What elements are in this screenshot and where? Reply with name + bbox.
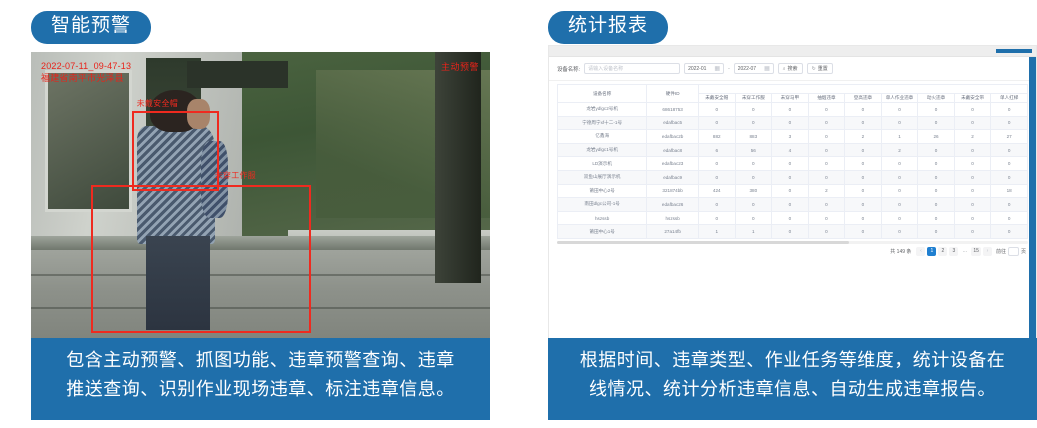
cell-violation-count: 883 (735, 130, 772, 144)
cell-violation-count: 0 (845, 143, 882, 157)
table-row[interactable]: 亿鑫海edafbac2b882883302126227 (558, 130, 1028, 144)
cell-violation-count: 0 (808, 198, 845, 212)
reset-button-label: 重置 (818, 65, 828, 72)
cell-violation-count: 0 (772, 116, 809, 130)
cell-violation-count: 0 (991, 143, 1028, 157)
report-table-wrapper: 设备名称 硬件ID 未戴安全帽未穿工作服未穿马甲抽烟违章登高违章单人作业违章动火… (549, 81, 1036, 239)
photo-timestamp-overlay: 2022-07-11_09-47-13 福建省南平市光泽县 (41, 60, 131, 84)
cell-violation-count: 2 (954, 130, 991, 144)
poster-stage: 智能预警 未戴安全帽 未穿工作服 (0, 0, 1037, 428)
right-caption: 根据时间、违章类型、作业任务等维度，统计设备在 线情况、统计分析违章信息、自动生… (548, 338, 1037, 420)
search-icon: ⌕ (783, 66, 786, 72)
cell-violation-count: 4 (772, 143, 809, 157)
cell-violation-count: 0 (954, 170, 991, 184)
cell-violation-count: 0 (772, 211, 809, 225)
surveillance-photo: 未戴安全帽 未穿工作服 2022-07-11_09-47-13 福建省南平市光泽… (31, 52, 490, 348)
photo-alarm-tag: 主动预警 (441, 60, 479, 73)
cell-violation-count: 0 (698, 157, 735, 171)
table-body: 龙岩ydlgc2号机68618753000000000宁德周宁xf十二-1号ed… (558, 103, 1028, 239)
table-row[interactable]: hszssbhszssb000000000 (558, 211, 1028, 225)
cell-hardware-id: edafbac9 (647, 170, 699, 184)
cell-violation-count: 0 (772, 170, 809, 184)
cell-hardware-id: edafbac5 (647, 116, 699, 130)
violation-statistics-table: 设备名称 硬件ID 未戴安全帽未穿工作服未穿马甲抽烟违章登高违章单人作业违章动火… (557, 84, 1028, 239)
header-violation-8[interactable]: 单人扛梯 (991, 94, 1028, 103)
cell-device-name: 双鱼山展厅演示机 (558, 170, 647, 184)
cell-violation-count: 0 (808, 157, 845, 171)
cell-violation-count: 0 (772, 157, 809, 171)
cell-violation-count: 0 (698, 116, 735, 130)
cell-violation-count: 0 (845, 184, 882, 198)
date-start-value: 2022-01 (688, 66, 706, 72)
scrollbar-thumb[interactable] (557, 241, 849, 244)
cell-hardware-id: hszssb (647, 211, 699, 225)
cell-device-name: 亿鑫海 (558, 130, 647, 144)
cell-violation-count: 0 (772, 198, 809, 212)
cell-hardware-id: edafbac8 (647, 143, 699, 157)
cell-violation-count: 1 (698, 225, 735, 239)
header-violation-1[interactable]: 未穿工作服 (735, 94, 772, 103)
cell-violation-count: 0 (881, 116, 918, 130)
left-caption-line-1: 包含主动预警、抓图功能、违章预警查询、违章 (45, 346, 476, 375)
cell-hardware-id: edafbac26 (647, 198, 699, 212)
cell-violation-count: 0 (735, 103, 772, 117)
header-violation-4[interactable]: 登高违章 (845, 94, 882, 103)
cell-device-name: 南田dlgc公司-1号 (558, 198, 647, 212)
left-caption-line-2: 推送查询、识别作业现场违章、标注违章信息。 (45, 375, 476, 404)
cell-violation-count: 0 (918, 116, 955, 130)
pagination-next[interactable]: › (983, 247, 992, 256)
cell-device-name: 莆田中心1号 (558, 225, 647, 239)
cell-hardware-id: edafbac2b (647, 130, 699, 144)
header-violation-3[interactable]: 抽烟违章 (808, 94, 845, 103)
cell-violation-count: 0 (808, 143, 845, 157)
cell-device-name: 龙岩ydlgc1号机 (558, 143, 647, 157)
cell-violation-count: 0 (881, 157, 918, 171)
photo-location: 福建省南平市光泽县 (41, 72, 131, 84)
cell-violation-count: 0 (698, 170, 735, 184)
cell-violation-count: 18 (991, 184, 1028, 198)
app-right-accent-bar (1029, 57, 1036, 347)
cell-violation-count: 0 (845, 170, 882, 184)
cell-violation-count: 0 (808, 103, 845, 117)
cell-violation-count: 0 (954, 157, 991, 171)
cell-violation-count: 0 (698, 198, 735, 212)
cell-violation-count: 0 (808, 211, 845, 225)
right-section-badge: 统计报表 (548, 11, 668, 44)
right-caption-line-1: 根据时间、违章类型、作业任务等维度，统计设备在 (562, 346, 1023, 375)
table-row[interactable]: 南田dlgc公司-1号edafbac26000000000 (558, 198, 1028, 212)
table-head: 设备名称 硬件ID 未戴安全帽未穿工作服未穿马甲抽烟违章登高违章单人作业违章动火… (558, 85, 1028, 103)
cell-violation-count: 0 (808, 116, 845, 130)
app-top-accent-bar (996, 49, 1032, 53)
table-header-row-1: 设备名称 硬件ID (558, 85, 1028, 94)
cell-violation-count: 0 (808, 170, 845, 184)
search-button-label: 搜索 (788, 65, 798, 72)
cell-hardware-id: 321874bb (647, 184, 699, 198)
date-end-input[interactable]: 2022-07 ▦ (734, 63, 774, 74)
table-row[interactable]: 莆田中心1号27a14fb110000000 (558, 225, 1028, 239)
search-toolbar: 设备名称: 请输入设备名称 2022-01 ▦ - 2022-07 ▦ ⌕ 搜索 (549, 57, 1036, 81)
pagination-jump: 前往 页 (996, 247, 1026, 256)
pagination-page-1[interactable]: 1 (927, 247, 936, 256)
detection-box-uniform (91, 185, 311, 333)
table-row[interactable]: LD演示机edafbac23000000000 (558, 157, 1028, 171)
table-row[interactable]: 双鱼山展厅演示机edafbac9000000000 (558, 170, 1028, 184)
calendar-icon: ▦ (764, 65, 770, 72)
device-name-label: 设备名称: (557, 65, 580, 73)
pagination-prev[interactable]: ‹ (916, 247, 925, 256)
cell-violation-count: 0 (735, 198, 772, 212)
cell-violation-count: 0 (735, 116, 772, 130)
cell-violation-count: 0 (991, 225, 1028, 239)
cell-violation-count: 0 (808, 130, 845, 144)
cell-violation-count: 0 (845, 211, 882, 225)
cell-violation-count: 0 (845, 116, 882, 130)
header-violation-7[interactable]: 未戴安全带 (954, 94, 991, 103)
cell-violation-count: 0 (845, 157, 882, 171)
cell-violation-count: 0 (772, 184, 809, 198)
table-row[interactable]: 莆田中心2号321874bb42438002000018 (558, 184, 1028, 198)
cell-violation-count: 0 (881, 184, 918, 198)
cell-violation-count: 1 (735, 225, 772, 239)
cell-violation-count: 0 (772, 225, 809, 239)
reset-button[interactable]: ↻ 重置 (807, 63, 833, 74)
cell-violation-count: 0 (954, 198, 991, 212)
date-range-separator: - (728, 66, 730, 72)
table-row[interactable]: 龙岩ydlgc1号机edafbac86564002000 (558, 143, 1028, 157)
cell-violation-count: 0 (918, 211, 955, 225)
cell-violation-count: 3 (772, 130, 809, 144)
cell-violation-count: 0 (954, 211, 991, 225)
pagination-total: 共 149 条 (890, 248, 911, 255)
cell-violation-count: 0 (698, 211, 735, 225)
cell-violation-count: 0 (918, 198, 955, 212)
header-device-name[interactable]: 设备名称 (558, 85, 647, 103)
date-end-value: 2022-07 (738, 66, 756, 72)
pagination-last-page[interactable]: 15 (971, 247, 981, 256)
cell-hardware-id: 27a14fb (647, 225, 699, 239)
cell-violation-count: 0 (698, 103, 735, 117)
cell-violation-count: 0 (735, 157, 772, 171)
report-app-panel: 设备名称: 请输入设备名称 2022-01 ▦ - 2022-07 ▦ ⌕ 搜索 (548, 45, 1037, 348)
cell-violation-count: 0 (918, 184, 955, 198)
detection-label-uniform: 未穿工作服 (215, 170, 257, 181)
cell-violation-count: 0 (772, 103, 809, 117)
right-caption-line-2: 线情况、统计分析违章信息、自动生成违章报告。 (562, 375, 1023, 404)
cell-device-name: hszssb (558, 211, 647, 225)
cell-device-name: LD演示机 (558, 157, 647, 171)
header-violation-2[interactable]: 未穿马甲 (772, 94, 809, 103)
header-hardware-id[interactable]: 硬件ID (647, 85, 699, 103)
pagination-page-3[interactable]: 3 (949, 247, 958, 256)
cell-violation-count: 0 (918, 103, 955, 117)
cell-device-name: 莆田中心2号 (558, 184, 647, 198)
photo-timestamp: 2022-07-11_09-47-13 (41, 60, 131, 72)
cell-violation-count: 2 (881, 143, 918, 157)
cell-violation-count: 380 (735, 184, 772, 198)
cell-violation-count: 424 (698, 184, 735, 198)
cell-violation-count: 0 (954, 103, 991, 117)
header-violation-group (698, 85, 1027, 94)
left-section-badge: 智能预警 (31, 11, 151, 44)
cell-violation-count: 0 (808, 225, 845, 239)
cell-violation-count: 0 (918, 225, 955, 239)
left-caption: 包含主动预警、抓图功能、违章预警查询、违章 推送查询、识别作业现场违章、标注违章… (31, 338, 490, 420)
header-violation-6[interactable]: 动火违章 (918, 94, 955, 103)
cell-violation-count: 0 (954, 116, 991, 130)
refresh-icon: ↻ (812, 66, 816, 72)
cell-violation-count: 0 (881, 103, 918, 117)
detection-box-helmet (132, 111, 219, 191)
cell-device-name: 龙岩ydlgc2号机 (558, 103, 647, 117)
pagination-page-2[interactable]: 2 (938, 247, 947, 256)
pagination-jump-label: 前往 (996, 248, 1006, 255)
cell-violation-count: 0 (991, 170, 1028, 184)
cell-violation-count: 0 (845, 198, 882, 212)
cell-violation-count: 882 (698, 130, 735, 144)
cell-violation-count: 0 (991, 103, 1028, 117)
cell-violation-count: 0 (881, 198, 918, 212)
cell-violation-count: 0 (735, 170, 772, 184)
device-name-input[interactable]: 请输入设备名称 (584, 63, 680, 74)
cell-violation-count: 0 (991, 116, 1028, 130)
cell-violation-count: 0 (735, 211, 772, 225)
cell-violation-count: 56 (735, 143, 772, 157)
cell-violation-count: 6 (698, 143, 735, 157)
cell-hardware-id: edafbac23 (647, 157, 699, 171)
cell-violation-count: 27 (991, 130, 1028, 144)
app-top-bar (549, 46, 1036, 57)
header-violation-0[interactable]: 未戴安全帽 (698, 94, 735, 103)
device-name-placeholder: 请输入设备名称 (588, 65, 623, 72)
table-row[interactable]: 宁德周宁xf十二-1号edafbac5000000000 (558, 116, 1028, 130)
table-row[interactable]: 龙岩ydlgc2号机68618753000000000 (558, 103, 1028, 117)
date-start-input[interactable]: 2022-01 ▦ (684, 63, 724, 74)
pagination-pages: 123 (927, 247, 958, 256)
cell-violation-count: 0 (954, 143, 991, 157)
search-button[interactable]: ⌕ 搜索 (778, 63, 803, 74)
pagination-ellipsis: … (960, 247, 969, 256)
cell-violation-count: 2 (845, 130, 882, 144)
pagination-jump-input[interactable] (1008, 247, 1019, 256)
pagination-jump-suffix: 页 (1021, 248, 1026, 255)
cell-device-name: 宁德周宁xf十二-1号 (558, 116, 647, 130)
cell-violation-count: 0 (991, 211, 1028, 225)
pagination: 共 149 条 ‹ 123 … 15 › 前往 页 (549, 244, 1036, 256)
cell-hardware-id: 68618753 (647, 103, 699, 117)
table-horizontal-scrollbar[interactable] (557, 241, 1028, 244)
detection-label-helmet: 未戴安全帽 (137, 98, 179, 109)
cell-violation-count: 0 (954, 184, 991, 198)
calendar-icon: ▦ (714, 65, 720, 72)
cell-violation-count: 1 (881, 130, 918, 144)
photo-awning (187, 61, 288, 88)
cell-violation-count: 0 (881, 170, 918, 184)
cell-violation-count: 26 (918, 130, 955, 144)
header-violation-5[interactable]: 单人作业违章 (881, 94, 918, 103)
cell-violation-count: 0 (881, 225, 918, 239)
cell-violation-count: 0 (918, 157, 955, 171)
statistics-report-app: 设备名称: 请输入设备名称 2022-01 ▦ - 2022-07 ▦ ⌕ 搜索 (548, 45, 1037, 348)
cell-violation-count: 0 (918, 143, 955, 157)
photo-pillar (435, 52, 481, 283)
cell-violation-count: 0 (845, 103, 882, 117)
alert-photo-panel: 未戴安全帽 未穿工作服 2022-07-11_09-47-13 福建省南平市光泽… (31, 52, 490, 348)
cell-violation-count: 0 (954, 225, 991, 239)
cell-violation-count: 0 (991, 198, 1028, 212)
cell-violation-count: 0 (918, 170, 955, 184)
cell-violation-count: 2 (808, 184, 845, 198)
cell-violation-count: 0 (845, 225, 882, 239)
cell-violation-count: 0 (881, 211, 918, 225)
cell-violation-count: 0 (991, 157, 1028, 171)
